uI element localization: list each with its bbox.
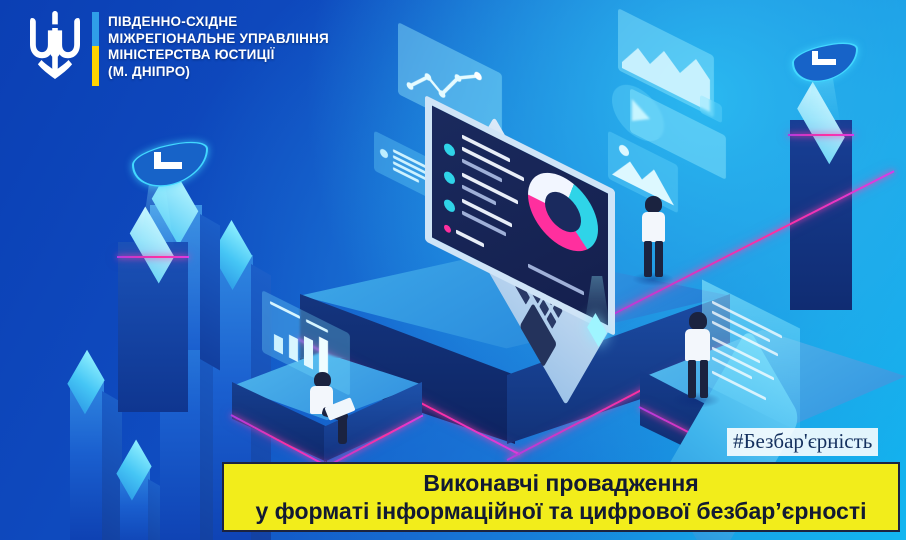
ukrainian-trident-emblem [24, 8, 86, 92]
bullet-dot [444, 142, 455, 159]
neon-edge [117, 256, 189, 258]
bullet-dot-accent [444, 224, 451, 235]
pillar [70, 382, 104, 540]
flag-accent-bar [92, 12, 99, 86]
isometric-laptop [395, 95, 665, 310]
clock-icon-arm [812, 59, 836, 65]
code-line [528, 264, 584, 296]
code-line [456, 230, 484, 248]
bullet-dot [444, 198, 455, 215]
left-glow-pillar [118, 228, 188, 408]
bar [304, 336, 313, 370]
neon-edge [788, 134, 854, 136]
donut-chart [528, 160, 598, 265]
pillar [120, 470, 150, 540]
code-line [462, 211, 506, 237]
person-seated-with-laptop [300, 372, 358, 444]
shield-clock-badge-right [792, 34, 854, 88]
caption-line-1: Виконавчі провадження [423, 469, 698, 497]
header: ПІВДЕННО-СХІДНЕ МІЖРЕГІОНАЛЬНЕ УПРАВЛІНН… [24, 8, 329, 92]
clock-icon-arm [154, 162, 182, 169]
bar [319, 337, 328, 378]
bar [274, 334, 283, 355]
shield-clock-badge-left [132, 132, 204, 194]
org-line-1: ПІВДЕННО-СХІДНЕ [108, 14, 329, 31]
caption-banner: Виконавчі провадження у форматі інформац… [222, 462, 900, 532]
hashtag-badge: #Безбар'єрність [727, 428, 878, 456]
person-standing-by-phone [679, 312, 715, 404]
org-line-3: МІНІСТЕРСТВА ЮСТИЦІЇ [108, 47, 329, 64]
organization-name: ПІВДЕННО-СХІДНЕ МІЖРЕГІОНАЛЬНЕ УПРАВЛІНН… [108, 14, 329, 80]
avatar [380, 148, 388, 160]
poster-canvas: ПІВДЕННО-СХІДНЕ МІЖРЕГІОНАЛЬНЕ УПРАВЛІНН… [0, 0, 906, 540]
caption-line-2: у форматі інформаційної та цифрової безб… [255, 497, 866, 526]
org-line-2: МІЖРЕГІОНАЛЬНЕ УПРАВЛІННЯ [108, 31, 329, 48]
bullet-dot [444, 170, 455, 187]
card-subtitle [306, 319, 328, 333]
org-line-4: (М. ДНІПРО) [108, 64, 329, 81]
person-standing-by-laptop [636, 196, 670, 282]
hashtag-text: #Безбар'єрність [733, 429, 872, 453]
bar [289, 335, 298, 363]
